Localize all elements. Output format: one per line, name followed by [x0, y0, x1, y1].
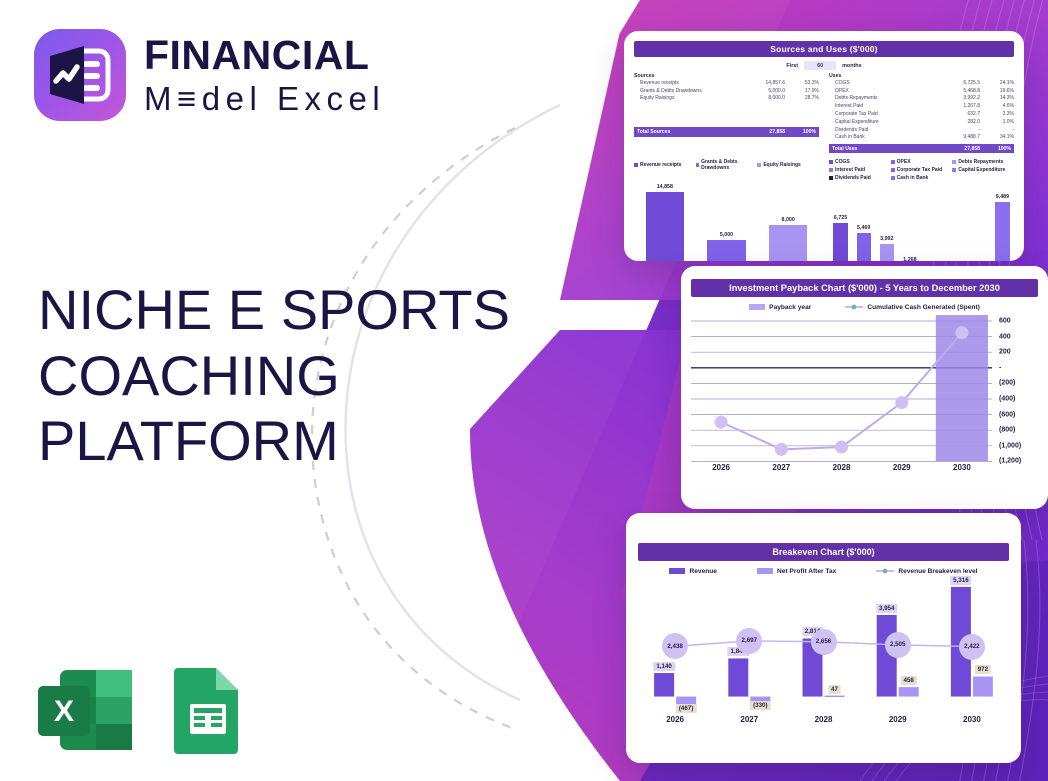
bar-column: 9,489 [991, 182, 1014, 261]
uses-column: Uses COGS6,725.524.1%OPEX5,468.819.6%Deb… [829, 73, 1014, 153]
row-value: 8,000.0 [741, 95, 785, 101]
table-row: Debts Repayments3,992.214.3% [829, 95, 1014, 103]
y-tick-label: (1,200) [999, 458, 1021, 465]
bar-value-label: 1,268 [903, 257, 916, 261]
legend-label: Equity Raisings [763, 162, 801, 168]
legend-item: Dividends Paid [829, 175, 891, 181]
total-uses-value: 27,858 [936, 146, 980, 152]
bar-value-label: 8,000 [782, 217, 795, 223]
legend-label: COGS [835, 159, 850, 165]
npat-value-label: 47 [828, 685, 841, 694]
row-value: 14,857.6 [741, 80, 785, 86]
row-pct: 19.6% [980, 88, 1014, 94]
row-value: - [936, 127, 980, 133]
payback-legend: Payback year Cumulative Cash Generated (… [691, 303, 1038, 311]
bar-column: 14,858 [634, 172, 696, 261]
breakeven-value-bubble: 2,422 [959, 634, 985, 660]
bar-value-label: 9,489 [996, 194, 1009, 200]
payback-x-axis: 20262027202820292030 [691, 463, 992, 472]
x-tick-label: 2026 [638, 715, 712, 724]
row-value: 9,488.7 [936, 134, 980, 140]
y-tick-label: 400 [999, 333, 1011, 340]
page-title-line2: COACHING [38, 343, 558, 409]
legend-item-revenue: Revenue [669, 567, 717, 575]
supported-formats: X [32, 664, 246, 756]
total-sources-row: Total Sources 27,858 100% [634, 127, 819, 136]
legend-label-payback-year: Payback year [769, 304, 811, 311]
page-title-line3: PLATFORM [38, 408, 558, 474]
y-tick-label: - [999, 364, 1001, 371]
bar-rect [995, 202, 1009, 261]
payback-title: Investment Payback Chart ($'000) - 5 Yea… [691, 279, 1038, 297]
legend-label: Cash in Bank [897, 175, 929, 181]
row-pct: 2.3% [980, 111, 1014, 117]
breakeven-card: Breakeven Chart ($'000) Revenue Net Prof… [626, 513, 1021, 763]
legend-label-cumulative-cash: Cumulative Cash Generated (Spent) [867, 304, 979, 311]
table-row: Equity Raisings8,000.028.7% [634, 95, 819, 103]
table-row: Corporate Tax Paid632.72.3% [829, 110, 1014, 118]
x-tick-label: 2027 [751, 463, 811, 472]
row-label: Dividends Paid [829, 127, 936, 133]
page-title-line1: NICHE E SPORTS [38, 277, 558, 343]
row-label: Capital Expenditure [829, 119, 936, 125]
row-label: Revenue receipts [634, 80, 741, 86]
table-row: Capital Expenditure282.01.0% [829, 118, 1014, 126]
investment-payback-card: Investment Payback Chart ($'000) - 5 Yea… [681, 266, 1048, 509]
total-uses-label: Total Uses [829, 146, 936, 152]
x-tick-label: 2029 [872, 463, 932, 472]
microsoft-excel-icon: X [32, 664, 140, 756]
table-row: Cash in Bank9,488.734.1% [829, 133, 1014, 141]
x-tick-label: 2027 [712, 715, 786, 724]
revenue-value-label: 5,316 [950, 576, 971, 585]
legend-item: Debts Repayments [952, 159, 1014, 165]
legend-item: OPEX [891, 159, 953, 165]
legend-swatch-icon [757, 163, 761, 167]
row-label: OPEX [829, 88, 936, 94]
y-tick-label: (600) [999, 411, 1015, 418]
legend-item: Revenue receipts [634, 159, 696, 171]
row-pct: 17.9% [785, 88, 819, 94]
row-label: Interest Paid [829, 103, 936, 109]
bar-value-label: 3,992 [880, 236, 893, 242]
x-tick-label: 2028 [811, 463, 871, 472]
bar-column: 1,268 [898, 182, 921, 261]
poster-canvas: FINANCIAL M≡del Excel NICHE E SPORTS COA… [0, 0, 1048, 781]
npat-swatch-icon [757, 568, 773, 574]
legend-item-payback-year: Payback year [749, 303, 811, 311]
payback-plot-area [691, 315, 992, 463]
breakeven-title: Breakeven Chart ($'000) [638, 543, 1009, 561]
revenue-swatch-icon [669, 568, 685, 574]
legend-label: Interest Paid [835, 167, 865, 173]
line-marker-icon [845, 303, 863, 311]
row-value: 5,468.8 [936, 88, 980, 94]
legend-swatch-icon [634, 163, 638, 167]
legend-label: Capital Expenditure [958, 167, 1005, 173]
y-tick-label: (200) [999, 380, 1015, 387]
bar-value-label: 5,000 [720, 232, 733, 238]
npat-value-label: 458 [901, 676, 917, 685]
months-input[interactable]: 60 [804, 61, 836, 70]
legend-item: Cash in Bank [891, 175, 953, 181]
legend-item-npat: Net Profit After Tax [757, 567, 836, 575]
logo-glyph-icon [34, 29, 126, 121]
total-sources-pct: 100% [785, 129, 819, 135]
bar-rect [769, 225, 807, 261]
financial-model-excel-logo-icon [34, 29, 126, 121]
brand-logo: FINANCIAL M≡del Excel [34, 29, 385, 121]
revenue-value-label: 1,140 [653, 662, 674, 671]
sources-uses-title: Sources and Uses ($'000) [634, 41, 1014, 57]
npat-value-label: 972 [975, 665, 991, 674]
x-tick-label: 2026 [691, 463, 751, 472]
payback-year-swatch-icon [749, 304, 765, 310]
legend-swatch-icon [891, 168, 895, 172]
legend-swatch-icon [829, 176, 833, 180]
legend-swatch-icon [891, 160, 895, 164]
legend-swatch-icon [829, 160, 833, 164]
legend-label: Dividends Paid [835, 175, 871, 181]
y-tick-label: (800) [999, 427, 1015, 434]
svg-text:X: X [54, 695, 74, 728]
breakeven-value-bubble: 2,697 [736, 628, 762, 654]
bar-rect [880, 244, 894, 261]
bar-column: 5,469 [852, 182, 875, 261]
legend-item: Equity Raisings [757, 159, 819, 171]
y-tick-label: (400) [999, 396, 1015, 403]
row-value: 6,725.5 [936, 80, 980, 86]
table-row: Revenue receipts14,857.653.3% [634, 79, 819, 87]
breakeven-value-bubble: 2,656 [811, 629, 837, 655]
total-uses-pct: 100% [980, 146, 1014, 152]
legend-swatch-icon [952, 160, 956, 164]
sources-and-uses-card: Sources and Uses ($'000) First 60 months… [624, 31, 1024, 261]
bar-column: 633 [922, 182, 945, 261]
row-pct: 24.1% [980, 80, 1014, 86]
bar-rect [857, 233, 871, 261]
legend-item: Grants & Debts Drawdowns [696, 159, 758, 171]
legend-item-cumulative-cash: Cumulative Cash Generated (Spent) [845, 303, 979, 311]
first-months-control: First 60 months [634, 61, 1014, 70]
breakeven-plot-area: 1,140(467)2,4381,848(330)2,6972,814472,6… [638, 581, 1009, 711]
x-tick-label: 2028 [786, 715, 860, 724]
row-label: Debts Repayments [829, 95, 936, 101]
page-title: NICHE E SPORTS COACHING PLATFORM [38, 277, 558, 474]
bar-rect [707, 240, 745, 261]
npat-value-label: (330) [750, 701, 770, 710]
x-tick-label: 2030 [935, 715, 1009, 724]
bar-value-label: 5,469 [857, 225, 870, 231]
bar-column: 282 [945, 182, 968, 261]
legend-label: Debts Repayments [958, 159, 1003, 165]
x-tick-label: 2029 [861, 715, 935, 724]
legend-label-breakeven-level: Revenue Breakeven level [898, 568, 977, 575]
sources-chart-legend: Revenue receiptsGrants & Debts Drawdowns… [634, 158, 819, 172]
google-sheets-icon [170, 664, 246, 756]
bar-rect [646, 192, 684, 261]
bar-value-label: 6,725 [834, 215, 847, 221]
bar-column: 3,992 [875, 182, 898, 261]
bar-column: 6,725 [829, 182, 852, 261]
payback-y-axis: 600400200-(200)(400)(600)(800)(1,000)(1,… [992, 315, 1038, 463]
legend-item-breakeven-level: Revenue Breakeven level [876, 567, 977, 575]
row-label: Cash in Bank [829, 134, 936, 140]
row-value: 282.0 [936, 119, 980, 125]
table-row: Dividends Paid-- [829, 126, 1014, 134]
table-row: Grants & Debts Drawdowns5,000.017.9% [634, 87, 819, 95]
breakeven-legend: Revenue Net Profit After Tax Revenue Bre… [638, 567, 1009, 575]
table-row: OPEX5,468.819.6% [829, 87, 1014, 95]
sources-column: Sources Revenue receipts14,857.653.3%Gra… [634, 73, 819, 153]
row-pct: 34.1% [980, 134, 1014, 140]
breakeven-value-bubble: 2,505 [885, 632, 911, 658]
line-marker-icon [876, 567, 894, 575]
months-label: months [842, 63, 861, 69]
bar-rect [833, 223, 847, 261]
row-label: COGS [829, 80, 936, 86]
legend-item: Capital Expenditure [952, 167, 1014, 173]
row-pct: 1.0% [980, 119, 1014, 125]
legend-label-npat: Net Profit After Tax [777, 568, 836, 575]
bar-column: 8,000 [757, 172, 819, 261]
breakeven-x-axis: 20262027202820292030 [638, 715, 1009, 724]
bar-column: 5,000 [696, 172, 758, 261]
legend-swatch-icon [952, 168, 956, 172]
legend-label: Grants & Debts Drawdowns [701, 159, 757, 171]
legend-label: Revenue receipts [640, 162, 681, 168]
row-value: 1,267.8 [936, 103, 980, 109]
legend-item: Corporate Tax Paid [891, 167, 953, 173]
legend-label: Corporate Tax Paid [897, 167, 942, 173]
npat-value-label: (467) [676, 704, 696, 713]
row-value: 3,992.2 [936, 95, 980, 101]
total-sources-label: Total Sources [634, 129, 741, 135]
row-pct: 14.3% [980, 95, 1014, 101]
legend-item: Interest Paid [829, 167, 891, 173]
total-sources-value: 27,858 [741, 129, 785, 135]
row-value: 5,000.0 [741, 88, 785, 94]
row-label: Corporate Tax Paid [829, 111, 936, 117]
row-label: Grants & Debts Drawdowns [634, 88, 741, 94]
y-tick-label: 200 [999, 349, 1011, 356]
brand-name-line2: M≡del Excel [144, 82, 385, 115]
first-label: First [786, 63, 798, 69]
legend-swatch-icon [696, 163, 699, 167]
brand-name-line1: FINANCIAL [144, 35, 385, 76]
legend-label: OPEX [897, 159, 911, 165]
y-tick-label: 600 [999, 318, 1011, 325]
table-row: COGS6,725.524.1% [829, 79, 1014, 87]
row-value: 632.7 [936, 111, 980, 117]
x-tick-label: 2030 [932, 463, 992, 472]
bar-value-label: 14,858 [657, 184, 673, 190]
total-uses-row: Total Uses 27,858 100% [829, 144, 1014, 153]
row-pct: 28.7% [785, 95, 819, 101]
table-row: Interest Paid1,267.84.6% [829, 102, 1014, 110]
y-tick-label: (1,000) [999, 442, 1021, 449]
legend-swatch-icon [891, 176, 895, 180]
row-pct: - [980, 127, 1014, 133]
legend-label-revenue: Revenue [689, 568, 717, 575]
legend-item: COGS [829, 159, 891, 165]
uses-chart-legend: COGSOPEXDebts RepaymentsInterest PaidCor… [829, 158, 1014, 182]
revenue-value-label: 3,954 [876, 604, 897, 613]
row-label: Equity Raisings [634, 95, 741, 101]
uses-bar-chart: 6,7255,4693,9921,26863328209,489 [829, 182, 1014, 261]
row-pct: 53.3% [785, 80, 819, 86]
sources-bar-chart: 14,8585,0008,000 [634, 172, 819, 261]
legend-swatch-icon [829, 168, 833, 172]
row-pct: 4.6% [980, 103, 1014, 109]
bar-column: 0 [968, 182, 991, 261]
